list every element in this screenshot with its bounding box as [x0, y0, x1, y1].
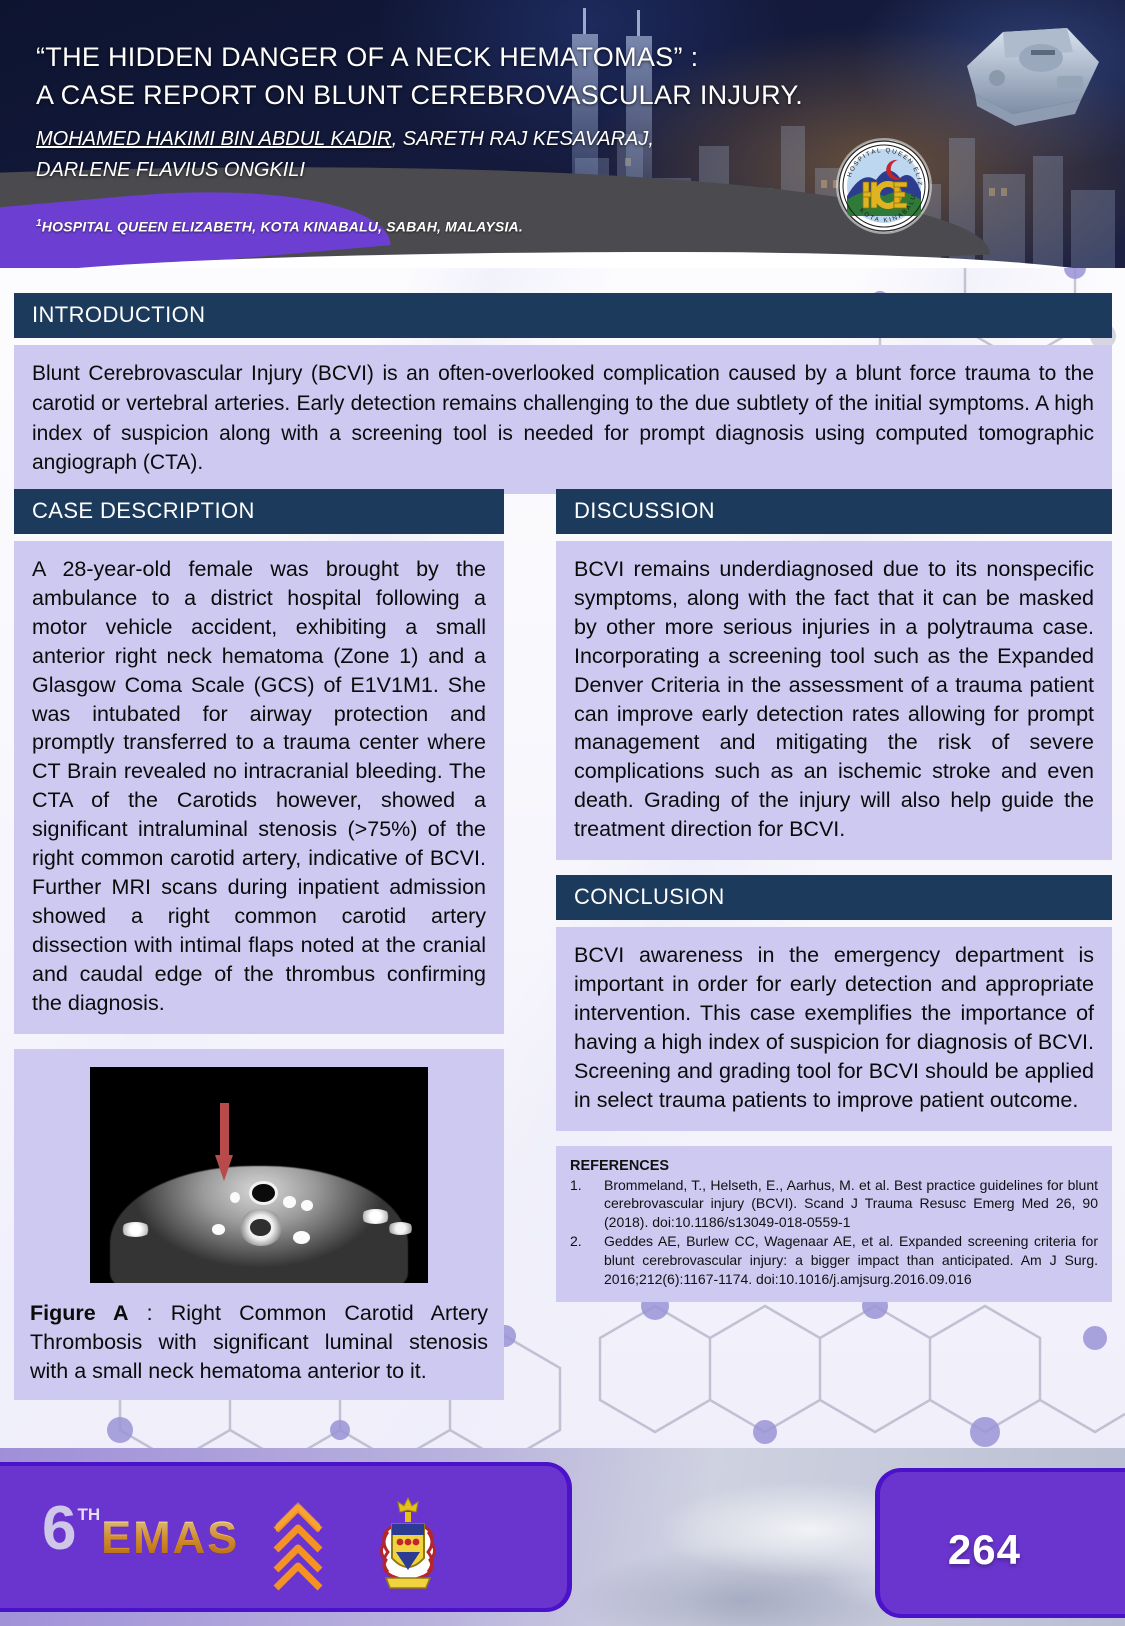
reference-number: 2.: [570, 1232, 604, 1288]
poster-title-block: “THE HIDDEN DANGER OF A NECK HEMATOMAS” …: [36, 38, 836, 187]
reference-item: 2. Geddes AE, Burlew CC, Wagenaar AE, et…: [570, 1232, 1098, 1288]
section-introduction: INTRODUCTION Blunt Cerebrovascular Injur…: [14, 293, 1112, 494]
figure-a-container: Figure A : Right Common Carotid Artery T…: [14, 1049, 504, 1400]
reference-text: Brommeland, T., Helseth, E., Aarhus, M. …: [604, 1176, 1098, 1232]
heraldic-crest-logo-icon: [372, 1492, 444, 1596]
author-rest: , SARETH RAJ KESAVARAJ,: [392, 128, 654, 150]
poster-footer: 6 TH EMAS: [0, 1448, 1125, 1626]
references-heading: REFERENCES: [570, 1158, 1098, 1174]
section-references: REFERENCES 1. Brommeland, T., Helseth, E…: [556, 1146, 1112, 1303]
emas-wordmark: EMAS: [101, 1518, 239, 1559]
ct-clavicle-right: [360, 1209, 390, 1224]
emas-ordinal: TH: [77, 1505, 100, 1525]
reference-text: Geddes AE, Burlew CC, Wagenaar AE, et al…: [604, 1232, 1098, 1288]
introduction-body: Blunt Cerebrovascular Injury (BCVI) is a…: [14, 345, 1112, 494]
ct-clavicle-left: [120, 1222, 150, 1237]
emas-event-logo: 6 TH EMAS: [42, 1502, 239, 1559]
poster-title-line-1: “THE HIDDEN DANGER OF A NECK HEMATOMAS” …: [36, 38, 836, 76]
ct-trachea: [249, 1181, 278, 1205]
hqe-hospital-logo-icon: HOSPITAL QUEEN ELIZABETH KOTA KINABALU: [838, 140, 930, 232]
conclusion-body: BCVI awareness in the emergency departme…: [556, 927, 1112, 1130]
case-description-heading: CASE DESCRIPTION: [14, 489, 504, 534]
poster-number-badge: 264: [948, 1526, 1021, 1574]
emas-number: 6: [42, 1502, 76, 1555]
red-arrow-annotation-icon: [215, 1103, 233, 1181]
discussion-heading: DISCUSSION: [556, 489, 1112, 534]
ct-vessel-a: [230, 1192, 240, 1203]
reference-item: 1. Brommeland, T., Helseth, E., Aarhus, …: [570, 1176, 1098, 1232]
figure-a-caption: Figure A : Right Common Carotid Artery T…: [30, 1299, 488, 1386]
introduction-heading: INTRODUCTION: [14, 293, 1112, 338]
spaceship-graphic: [947, 6, 1117, 136]
reference-number: 1.: [570, 1176, 604, 1232]
conclusion-heading: CONCLUSION: [556, 875, 1112, 920]
figure-a-label: Figure A: [30, 1301, 129, 1325]
author-line-2: DARLENE FLAVIUS ONGKILI: [36, 155, 836, 187]
ct-rib-right: [387, 1222, 414, 1235]
ct-vertebra: [239, 1209, 283, 1246]
affiliation-line: 1HOSPITAL QUEEN ELIZABETH, KOTA KINABALU…: [36, 218, 523, 235]
left-column: CASE DESCRIPTION A 28-year-old female wa…: [14, 489, 504, 1400]
case-description-body: A 28-year-old female was brought by the …: [14, 541, 504, 1034]
ct-vessel-b: [283, 1196, 297, 1208]
author-lead: MOHAMED HAKIMI BIN ABDUL KADIR: [36, 128, 392, 150]
ct-scan-image: [90, 1067, 428, 1283]
poster-title-line-2: A CASE REPORT ON BLUNT CEREBROVASCULAR I…: [36, 76, 836, 114]
section-conclusion: CONCLUSION BCVI awareness in the emergen…: [556, 875, 1112, 1130]
ct-vessel-d: [212, 1224, 226, 1235]
discussion-body: BCVI remains underdiagnosed due to its n…: [556, 541, 1112, 860]
poster-canvas: “THE HIDDEN DANGER OF A NECK HEMATOMAS” …: [0, 0, 1125, 1626]
right-column: DISCUSSION BCVI remains underdiagnosed d…: [556, 489, 1112, 1302]
orange-chevron-logo-icon: [268, 1496, 328, 1592]
section-discussion: DISCUSSION BCVI remains underdiagnosed d…: [556, 489, 1112, 860]
author-list: MOHAMED HAKIMI BIN ABDUL KADIR, SARETH R…: [36, 124, 836, 187]
section-case-description: CASE DESCRIPTION A 28-year-old female wa…: [14, 489, 504, 1034]
ct-vessel-e: [293, 1231, 310, 1244]
affiliation-text: HOSPITAL QUEEN ELIZABETH, KOTA KINABALU,…: [42, 219, 523, 235]
